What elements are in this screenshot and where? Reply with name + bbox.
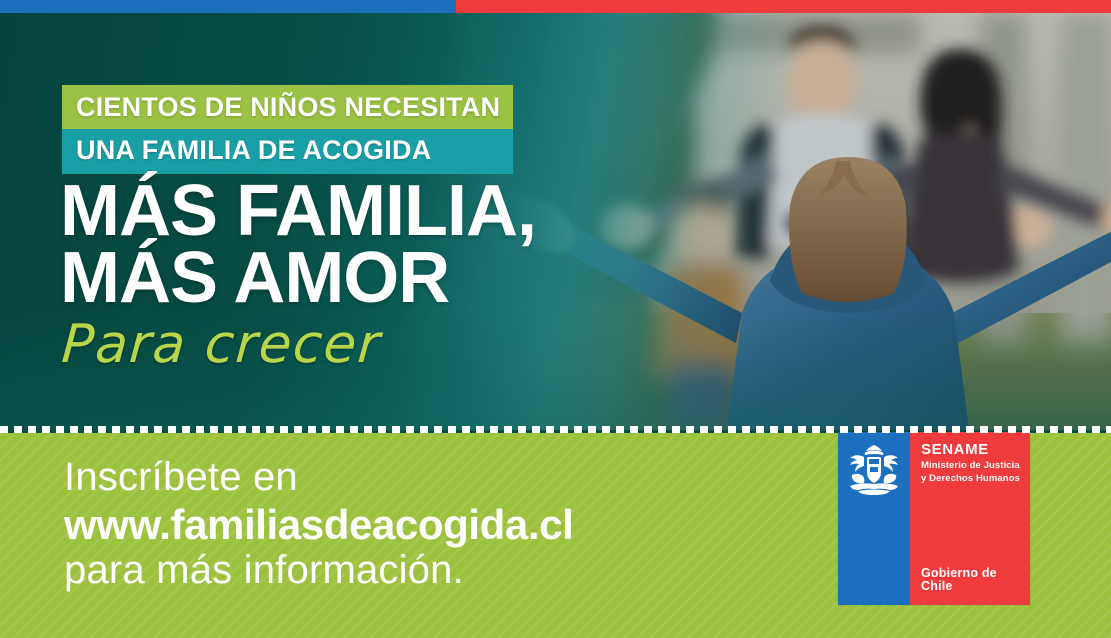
cta-line-3: para más información.	[64, 548, 573, 594]
eyebrow-line-1: CIENTOS DE NIÑOS NECESITAN	[62, 85, 513, 129]
campaign-poster: CIENTOS DE NIÑOS NECESITAN UNA FAMILIA D…	[0, 0, 1111, 638]
logo-ministry-line-1: Ministerio de Justicia	[921, 460, 1025, 473]
headline-line-2: MÁS AMOR	[60, 245, 536, 312]
logo-ministry-line-2: y Derechos Humanos	[921, 473, 1025, 486]
main-headline: MÁS FAMILIA, MÁS AMOR	[60, 178, 536, 312]
top-color-strip	[0, 0, 1111, 13]
cta-line-1: Inscríbete en	[64, 455, 573, 501]
government-logo: SENAME Ministerio de Justicia y Derechos…	[838, 432, 1030, 605]
logo-red-panel: SENAME Ministerio de Justicia y Derechos…	[910, 432, 1030, 605]
strip-blue	[0, 0, 456, 13]
cta-text-block: Inscríbete en www.familiasdeacogida.cl p…	[64, 455, 573, 594]
logo-ministry: Ministerio de Justicia y Derechos Humano…	[921, 460, 1025, 486]
eyebrow-line-2: UNA FAMILIA DE ACOGIDA	[62, 129, 513, 174]
eyebrow-headline: CIENTOS DE NIÑOS NECESITAN UNA FAMILIA D…	[62, 85, 513, 174]
strip-red	[456, 0, 1111, 13]
logo-government-label: Gobierno de Chile	[921, 567, 1030, 592]
logo-blue-panel	[838, 432, 910, 605]
cta-website-url[interactable]: www.familiasdeacogida.cl	[64, 501, 573, 549]
chilean-coat-of-arms-icon	[844, 441, 904, 497]
headline-script-tagline: Para crecer	[60, 318, 383, 371]
logo-sename-title: SENAME	[921, 442, 989, 457]
dashed-divider	[0, 426, 1111, 433]
